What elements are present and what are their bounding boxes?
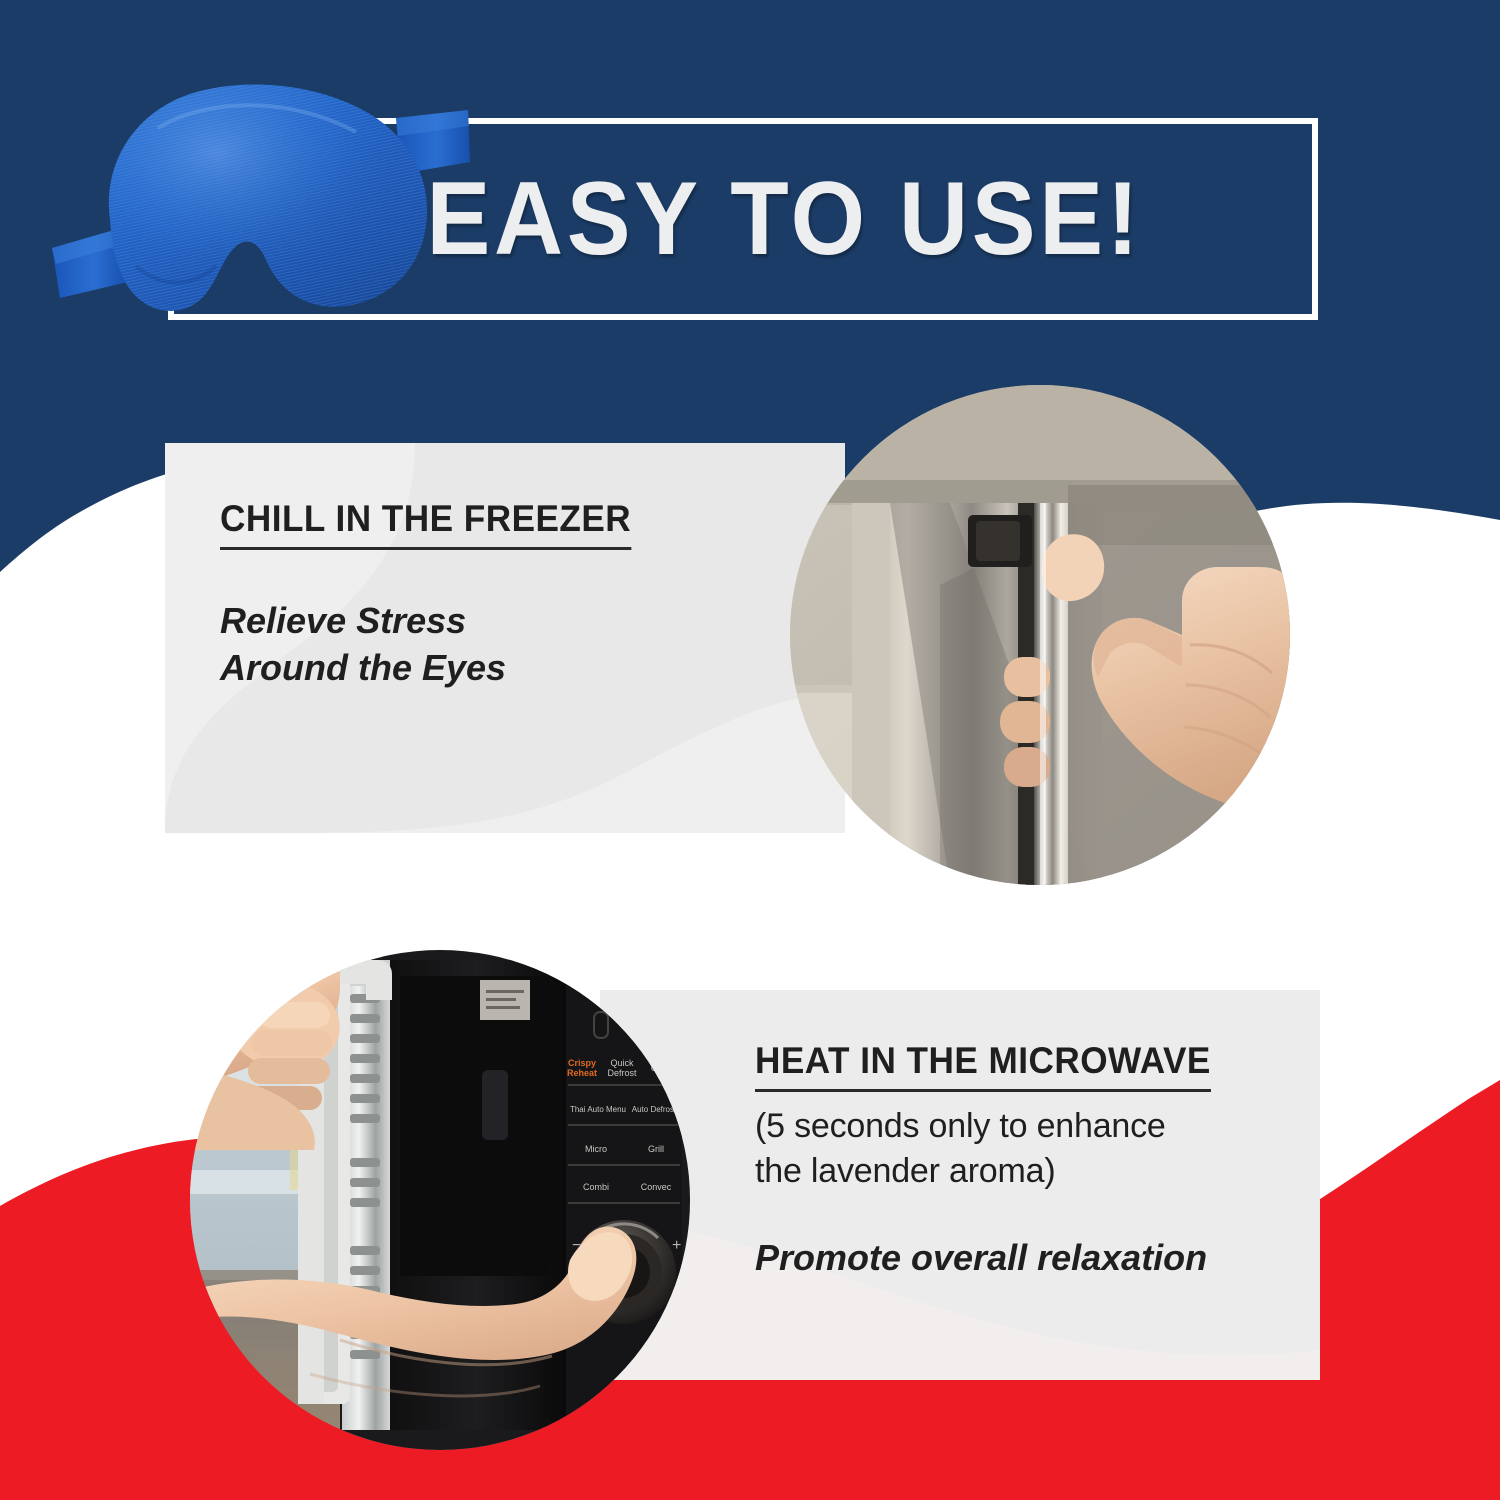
microwave-photo: Crispy Reheat Quick Defrost Clock Thai A… — [190, 950, 690, 1450]
infographic-canvas: CHILL IN THE FREEZER Relieve Stress Arou… — [0, 0, 1500, 1500]
freezer-text-panel: CHILL IN THE FREEZER Relieve Stress Arou… — [165, 443, 845, 833]
microwave-detail-line-2: the lavender aroma) — [755, 1149, 1235, 1194]
eye-mask-body — [109, 84, 427, 310]
eye-mask-art — [40, 70, 470, 340]
svg-text:Crispy: Crispy — [568, 1058, 596, 1068]
refrigerator-photo — [790, 385, 1290, 885]
svg-text:Clock: Clock — [651, 1063, 674, 1073]
microwave-heading-wrap: HEAT IN THE MICROWAVE (5 seconds only to… — [755, 1040, 1235, 1194]
svg-text:Auto Defrost: Auto Defrost — [632, 1105, 677, 1114]
svg-text:+: + — [672, 1237, 681, 1254]
microwave-photo-art: Crispy Reheat Quick Defrost Clock Thai A… — [190, 950, 690, 1450]
freezer-benefit-line-2: Around the Eyes — [220, 645, 506, 692]
microwave-benefit-wrap: Promote overall relaxation — [755, 1235, 1207, 1282]
svg-text:Quick: Quick — [610, 1058, 634, 1068]
svg-text:Thai Auto Menu: Thai Auto Menu — [570, 1105, 626, 1114]
freezer-benefit-line-1: Relieve Stress — [220, 598, 506, 645]
svg-text:Grill: Grill — [648, 1144, 664, 1154]
svg-text:Convec: Convec — [641, 1182, 672, 1192]
freezer-heading-wrap: CHILL IN THE FREEZER — [220, 498, 653, 550]
svg-text:Defrost: Defrost — [607, 1068, 637, 1078]
microwave-detail-line-1: (5 seconds only to enhance — [755, 1104, 1235, 1149]
freezer-heading: CHILL IN THE FREEZER — [220, 498, 631, 550]
freezer-benefit-wrap: Relieve Stress Around the Eyes — [220, 598, 506, 692]
svg-text:Combi: Combi — [583, 1182, 609, 1192]
svg-text:Micro: Micro — [585, 1144, 607, 1154]
eye-mask-product — [40, 70, 470, 340]
microwave-text-panel: HEAT IN THE MICROWAVE (5 seconds only to… — [600, 990, 1320, 1380]
microwave-benefit: Promote overall relaxation — [755, 1235, 1207, 1282]
svg-text:Reheat: Reheat — [567, 1068, 597, 1078]
microwave-heading: HEAT IN THE MICROWAVE — [755, 1040, 1211, 1092]
refrigerator-photo-art — [790, 385, 1290, 885]
